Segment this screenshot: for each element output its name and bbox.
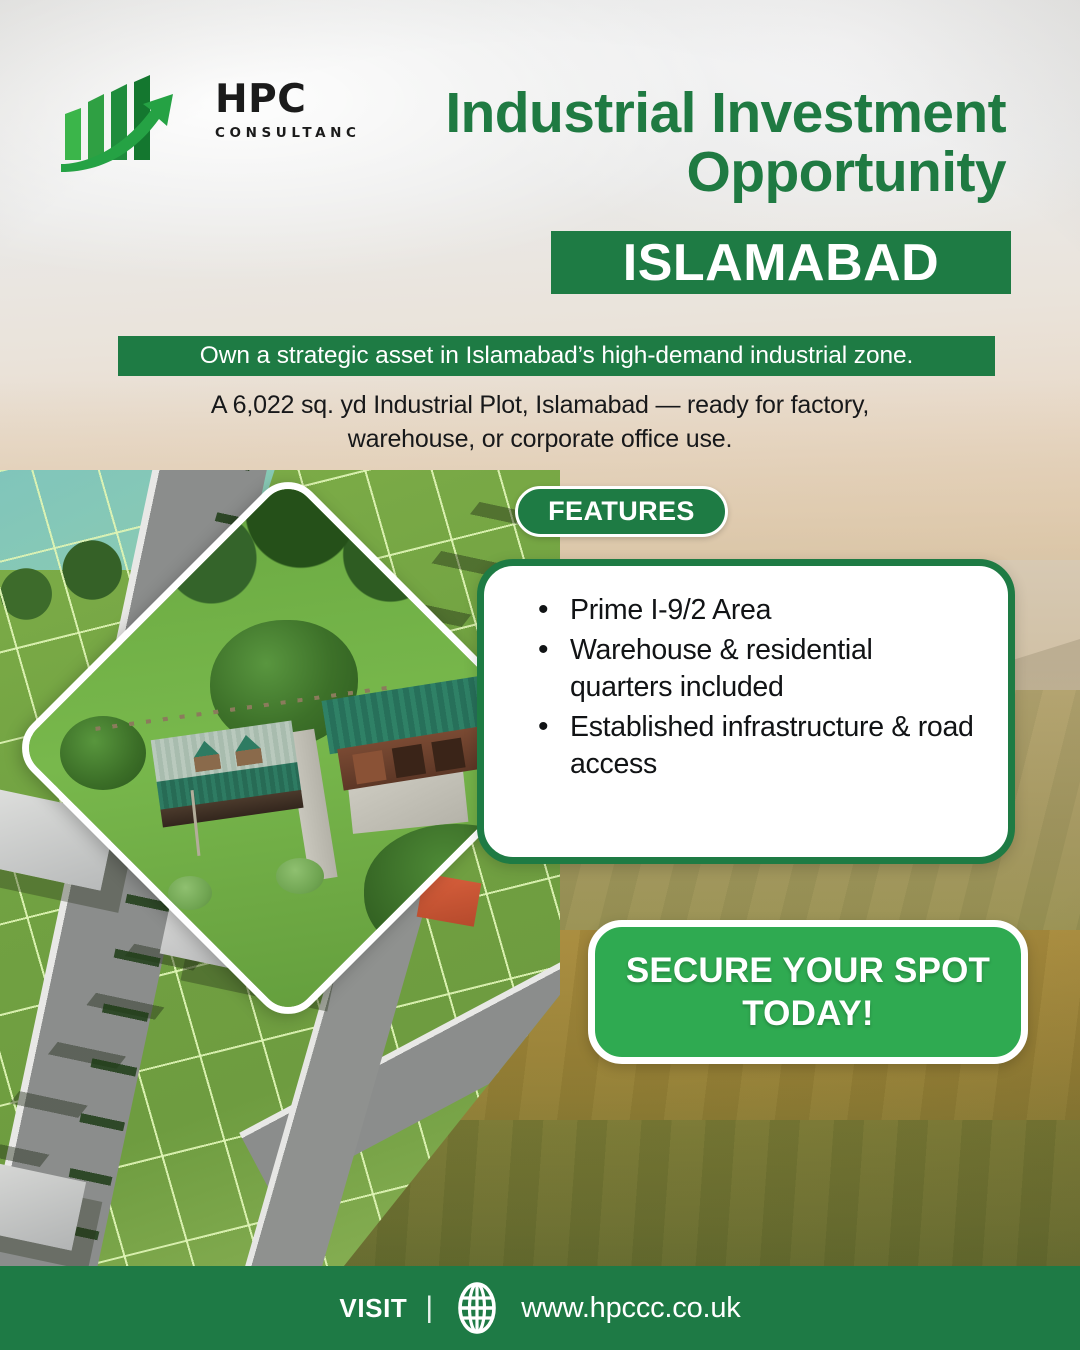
features-card: Prime I-9/2 Area Warehouse & residential… xyxy=(477,559,1015,864)
photo-barn-door-3 xyxy=(431,738,465,772)
tagline-text: Own a strategic asset in Islamabad’s hig… xyxy=(200,344,913,369)
photo-bush-1 xyxy=(168,876,212,910)
photo-barn-door-2 xyxy=(392,744,426,778)
photo-bush-2 xyxy=(276,858,324,894)
website-url[interactable]: www.hpccc.co.uk xyxy=(521,1292,740,1325)
features-badge: FEATURES xyxy=(515,486,728,537)
photo-house xyxy=(151,721,304,826)
visit-label: VISIT xyxy=(339,1293,407,1324)
list-item: Prime I-9/2 Area xyxy=(570,592,980,629)
footer-divider: | xyxy=(425,1291,433,1325)
headline-line-2: Opportunity xyxy=(296,143,1006,202)
headline-line-1: Industrial Investment xyxy=(445,81,1006,145)
poster-canvas: HPC CONSULTANC Industrial Investment Opp… xyxy=(0,0,1080,1350)
list-item: Established infrastructure & road access xyxy=(570,709,980,783)
photo-barn-door-1 xyxy=(352,750,386,784)
footer-bar: VISIT | www.hpccc.co.uk xyxy=(0,1266,1080,1350)
cta-label: SECURE YOUR SPOT TODAY! xyxy=(595,949,1021,1036)
list-item: Warehouse & residential quarters include… xyxy=(570,632,980,706)
description-text: A 6,022 sq. yd Industrial Plot, Islamaba… xyxy=(150,388,930,456)
globe-icon xyxy=(451,1282,503,1334)
bar-chart-growth-arrow-icon xyxy=(55,72,205,172)
page-title: Industrial Investment Opportunity xyxy=(296,84,1006,201)
city-banner: ISLAMABAD xyxy=(551,231,1011,294)
hpc-logo[interactable]: HPC CONSULTANC xyxy=(55,72,315,174)
secure-your-spot-button[interactable]: SECURE YOUR SPOT TODAY! xyxy=(588,920,1028,1064)
city-label: ISLAMABAD xyxy=(623,237,939,289)
features-badge-label: FEATURES xyxy=(548,496,695,527)
tagline-bar: Own a strategic asset in Islamabad’s hig… xyxy=(118,336,995,376)
features-list: Prime I-9/2 Area Warehouse & residential… xyxy=(570,592,980,783)
